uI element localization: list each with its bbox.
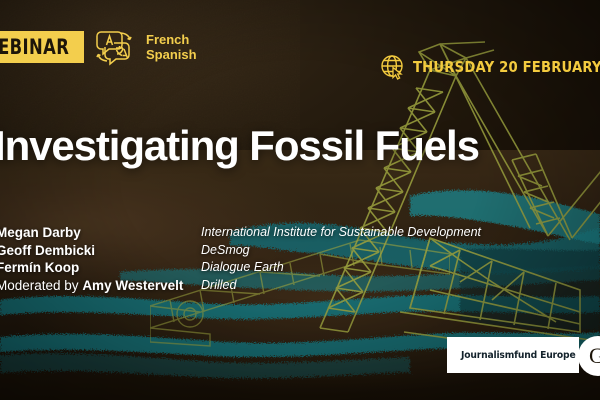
speaker-name: Geoff Dembicki <box>0 242 201 260</box>
webinar-poster: WEBINAR French Spanish <box>0 0 600 400</box>
speaker-name: Fermín Koop <box>0 259 201 277</box>
speaker-org: DeSmog <box>201 242 481 260</box>
webinar-badge: WEBINAR <box>0 31 84 63</box>
speaker-orgs-column: International Institute for Sustainable … <box>201 224 481 294</box>
page-title: Investigating Fossil Fuels <box>0 122 479 170</box>
language-line-2: Spanish <box>146 47 197 62</box>
speaker-names-column: Megan Darby Geoff Dembicki Fermín Koop M… <box>0 224 201 294</box>
language-line-1: French <box>146 32 197 47</box>
journalismfund-europe-label: Journalismfund Europe <box>461 350 576 361</box>
translate-bubbles-icon <box>94 28 138 66</box>
moderator-line: Moderated by Amy Westervelt <box>0 277 201 295</box>
speaker-list: Megan Darby Geoff Dembicki Fermín Koop M… <box>0 224 481 294</box>
datetime-label: THURSDAY 20 FEBRUARY | 9AM ET <box>413 58 600 76</box>
language-availability: French Spanish <box>94 28 197 66</box>
journalismfund-europe-logo: Journalismfund Europe <box>447 337 579 373</box>
speaker-org: International Institute for Sustainable … <box>201 224 481 242</box>
language-labels: French Spanish <box>146 32 197 62</box>
webinar-badge-label: WEBINAR <box>0 35 69 59</box>
speaker-name: Megan Darby <box>0 224 201 242</box>
moderator-org: Drilled <box>201 277 481 295</box>
g-circle-logo-label: G <box>589 343 600 369</box>
moderator-prefix: Moderated by <box>0 278 82 293</box>
speaker-org: Dialogue Earth <box>201 259 481 277</box>
moderator-name: Amy Westervelt <box>82 278 183 293</box>
globe-cursor-icon <box>380 54 406 80</box>
datetime-block: THURSDAY 20 FEBRUARY | 9AM ET <box>380 54 600 80</box>
